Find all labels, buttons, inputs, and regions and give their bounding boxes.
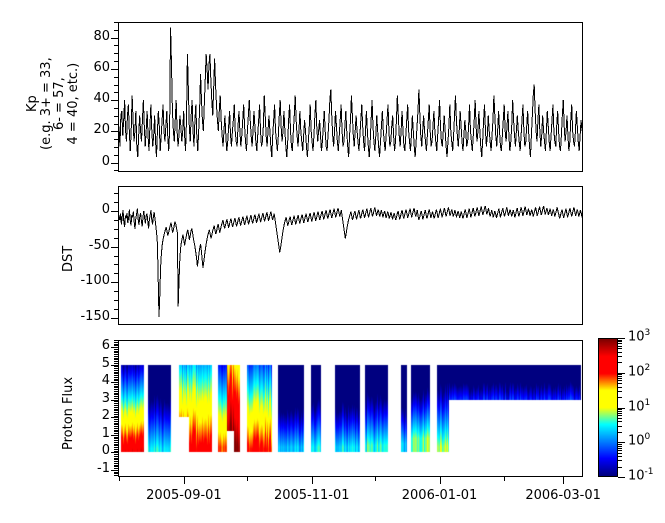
colorbar-tick-minor: [618, 397, 622, 398]
y-tick-minor: [114, 461, 118, 462]
y-tick-minor: [114, 291, 118, 292]
y-tick-minor: [114, 394, 118, 395]
kp-panel: [118, 22, 583, 172]
y-tick-minor: [114, 273, 118, 274]
kp-axis-title-line-3: 4 = 40, etc.): [67, 57, 81, 150]
y-tick-minor: [114, 442, 118, 443]
y-tick-label: -1: [56, 461, 110, 476]
x-tick-major: [440, 477, 441, 484]
y-tick-minor: [114, 405, 118, 406]
y-tick-minor: [114, 451, 118, 452]
y-tick-minor: [114, 340, 118, 341]
colorbar-tick-label: 101: [628, 398, 650, 414]
x-tick-label: 2005-09-01: [124, 488, 244, 503]
y-tick-minor: [114, 344, 118, 345]
y-tick-minor: [114, 85, 118, 86]
colorbar-label-mantissa: 10: [628, 468, 645, 483]
colorbar-tick-label: 100: [628, 432, 650, 448]
colorbar-tick-minor: [618, 444, 622, 445]
y-tick-label: 5: [56, 356, 110, 371]
y-tick-minor: [114, 412, 118, 413]
y-tick-minor: [114, 414, 118, 415]
y-tick-minor: [114, 22, 118, 23]
y-tick-minor: [114, 170, 118, 171]
y-tick-minor: [114, 428, 118, 429]
y-tick-minor: [114, 380, 118, 381]
y-tick-minor: [114, 347, 118, 348]
colorbar-tick-minor: [618, 411, 622, 412]
y-tick-minor: [114, 465, 118, 466]
x-tick-label: 2005-11-01: [252, 488, 372, 503]
y-tick-minor: [114, 419, 118, 420]
y-tick-minor: [114, 372, 118, 373]
colorbar-tick-label: 103: [628, 328, 650, 344]
y-tick-minor: [114, 466, 118, 467]
y-tick-minor: [114, 45, 118, 46]
dst-panel: [118, 186, 583, 325]
y-tick-minor: [114, 38, 118, 39]
y-tick-minor: [114, 229, 118, 230]
x-tick-label: 2006-01-01: [380, 488, 500, 503]
y-tick-minor: [114, 124, 118, 125]
dst-axis-title-text: DST: [61, 246, 76, 272]
y-tick-minor: [114, 92, 118, 93]
y-tick-minor: [114, 400, 118, 401]
y-tick-minor: [114, 463, 118, 464]
y-tick-minor: [114, 382, 118, 383]
y-tick-minor: [114, 100, 118, 101]
kp-axis-title-line-1: (e.g. 3+ = 33,: [40, 57, 54, 150]
y-tick-minor: [114, 351, 118, 352]
y-tick-minor: [114, 473, 118, 474]
y-tick-minor: [114, 410, 118, 411]
y-tick-minor: [114, 386, 118, 387]
colorbar-tick-minor: [618, 376, 622, 377]
y-tick-minor: [114, 108, 118, 109]
flux-axis-title-text: Proton Flux: [61, 377, 76, 450]
y-tick-minor: [114, 163, 118, 164]
y-tick-minor: [114, 445, 118, 446]
y-tick-minor: [114, 438, 118, 439]
y-tick-minor: [114, 375, 118, 376]
y-tick-minor: [114, 459, 118, 460]
y-tick-minor: [114, 456, 118, 457]
colorbar-label-exponent: -1: [645, 467, 654, 477]
colorbar-tick-minor: [618, 341, 622, 342]
y-tick-minor: [114, 416, 118, 417]
colorbar-tick-minor: [618, 467, 622, 468]
colorbar-tick-minor: [618, 340, 622, 341]
x-tick-label: 2006-03-01: [503, 488, 623, 503]
y-tick-minor: [114, 454, 118, 455]
colorbar-tick-minor: [618, 346, 622, 347]
colorbar-tick-minor: [618, 387, 622, 388]
colorbar-tick-minor: [618, 362, 622, 363]
dst-axis-title: DST: [62, 246, 76, 272]
colorbar-tick-minor: [618, 413, 622, 414]
y-tick-minor: [114, 282, 118, 283]
y-tick-minor: [114, 342, 118, 343]
colorbar-tick-label: 102: [628, 363, 650, 379]
y-tick-minor: [114, 366, 118, 367]
colorbar: [598, 338, 618, 477]
dst-series-plot: [119, 187, 582, 324]
y-tick-minor: [114, 437, 118, 438]
x-tick-minor: [247, 477, 248, 481]
colorbar-tick-minor: [618, 383, 622, 384]
colorbar-label-exponent: 2: [645, 363, 651, 373]
colorbar-label-mantissa: 10: [628, 329, 645, 344]
y-tick-minor: [114, 373, 118, 374]
y-tick-minor: [114, 407, 118, 408]
y-tick-label: 6: [56, 338, 110, 353]
y-tick-minor: [114, 356, 118, 357]
figure-root: 020406080 Kp (e.g. 3+ = 33, 6- = 57, 4 =…: [0, 0, 665, 523]
colorbar-tick-minor: [618, 356, 622, 357]
y-tick-minor: [114, 377, 118, 378]
y-tick-minor: [114, 193, 118, 194]
colorbar-tick-minor: [618, 421, 622, 422]
y-tick-minor: [114, 352, 118, 353]
y-tick-minor: [114, 220, 118, 221]
colorbar-tick-minor: [618, 426, 622, 427]
y-tick-minor: [114, 430, 118, 431]
y-tick-minor: [114, 401, 118, 402]
colorbar-label-mantissa: 10: [628, 434, 645, 449]
y-tick-minor: [114, 300, 118, 301]
y-tick-minor: [114, 472, 118, 473]
colorbar-tick-minor: [618, 456, 622, 457]
kp-axis-title-line-0: Kp: [26, 57, 40, 150]
x-tick-major: [563, 477, 564, 484]
y-tick-minor: [114, 449, 118, 450]
colorbar-tick-label: 10-1: [628, 467, 654, 483]
colorbar-tick-minor: [618, 448, 622, 449]
colorbar-tick-minor: [618, 446, 622, 447]
y-tick-minor: [114, 318, 118, 319]
y-tick-minor: [114, 354, 118, 355]
colorbar-tick-minor: [618, 348, 622, 349]
y-tick-minor: [114, 30, 118, 31]
y-tick-minor: [114, 424, 118, 425]
y-tick-minor: [114, 387, 118, 388]
y-tick-minor: [114, 264, 118, 265]
colorbar-tick-minor: [618, 391, 622, 392]
colorbar-tick-minor: [618, 418, 622, 419]
colorbar-label-exponent: 0: [645, 432, 651, 442]
colorbar-tick-minor: [618, 380, 622, 381]
colorbar-label-exponent: 1: [645, 398, 651, 408]
y-tick-minor: [114, 417, 118, 418]
y-tick-minor: [114, 349, 118, 350]
y-tick-minor: [114, 211, 118, 212]
y-tick-minor: [114, 147, 118, 148]
y-tick-minor: [114, 421, 118, 422]
y-tick-minor: [114, 53, 118, 54]
y-tick-minor: [114, 468, 118, 469]
y-tick-label: 0: [56, 202, 110, 217]
colorbar-tick-minor: [618, 352, 622, 353]
colorbar-tick-minor: [618, 460, 622, 461]
colorbar-tick-minor: [618, 343, 622, 344]
y-tick-minor: [114, 77, 118, 78]
y-tick-minor: [114, 452, 118, 453]
y-tick-minor: [114, 202, 118, 203]
y-tick-minor: [114, 426, 118, 427]
colorbar-gradient: [599, 339, 617, 476]
y-tick-minor: [114, 139, 118, 140]
y-tick-label: 0: [56, 154, 110, 169]
colorbar-tick-minor: [618, 378, 622, 379]
y-tick-minor: [114, 363, 118, 364]
colorbar-label-exponent: 3: [645, 328, 651, 338]
y-tick-minor: [114, 398, 118, 399]
colorbar-tick-minor: [618, 450, 622, 451]
y-tick-minor: [114, 447, 118, 448]
y-tick-minor: [114, 116, 118, 117]
y-tick-minor: [114, 256, 118, 257]
x-tick-major: [312, 477, 313, 484]
y-tick-minor: [114, 396, 118, 397]
y-tick-minor: [114, 444, 118, 445]
proton-flux-spectrogram: [119, 341, 582, 476]
proton-flux-panel: [118, 340, 583, 477]
y-tick-minor: [114, 475, 118, 476]
y-tick-minor: [114, 433, 118, 434]
kp-axis-title: Kp (e.g. 3+ = 33, 6- = 57, 4 = 40, etc.): [26, 57, 81, 150]
y-tick-minor: [114, 155, 118, 156]
x-tick-minor: [504, 477, 505, 481]
y-tick-label: -100: [56, 273, 110, 288]
colorbar-tick-major: [618, 477, 625, 478]
x-tick-minor: [119, 477, 120, 481]
flux-axis-title: Proton Flux: [62, 377, 76, 450]
y-tick-minor: [114, 247, 118, 248]
y-tick-minor: [114, 345, 118, 346]
y-tick-minor: [114, 409, 118, 410]
y-tick-label: -150: [56, 309, 110, 324]
y-tick-minor: [114, 361, 118, 362]
y-tick-minor: [114, 238, 118, 239]
colorbar-label-mantissa: 10: [628, 399, 645, 414]
y-tick-minor: [114, 435, 118, 436]
y-tick-minor: [114, 393, 118, 394]
y-tick-minor: [114, 370, 118, 371]
y-tick-minor: [114, 359, 118, 360]
colorbar-tick-minor: [618, 374, 622, 375]
colorbar-label-mantissa: 10: [628, 364, 645, 379]
y-tick-minor: [114, 423, 118, 424]
y-tick-minor: [114, 69, 118, 70]
kp-series-plot: [119, 23, 582, 171]
y-tick-minor: [114, 309, 118, 310]
y-tick-minor: [114, 365, 118, 366]
x-tick-major: [184, 477, 185, 484]
y-tick-minor: [114, 131, 118, 132]
y-tick-minor: [114, 389, 118, 390]
colorbar-tick-major: [618, 338, 625, 339]
y-tick-minor: [114, 61, 118, 62]
y-tick-minor: [114, 470, 118, 471]
y-tick-minor: [114, 368, 118, 369]
colorbar-tick-minor: [618, 453, 622, 454]
colorbar-tick-minor: [618, 415, 622, 416]
colorbar-tick-minor: [618, 432, 622, 433]
y-tick-minor: [114, 391, 118, 392]
y-tick-minor: [114, 358, 118, 359]
colorbar-tick-minor: [618, 409, 622, 410]
y-tick-label: 80: [56, 29, 110, 44]
y-tick-minor: [114, 440, 118, 441]
y-tick-minor: [114, 431, 118, 432]
y-tick-minor: [114, 403, 118, 404]
x-tick-minor: [375, 477, 376, 481]
kp-axis-title-line-2: 6- = 57,: [53, 57, 67, 150]
y-tick-minor: [114, 384, 118, 385]
y-tick-minor: [114, 458, 118, 459]
colorbar-tick-major: [618, 442, 625, 443]
y-tick-minor: [114, 379, 118, 380]
